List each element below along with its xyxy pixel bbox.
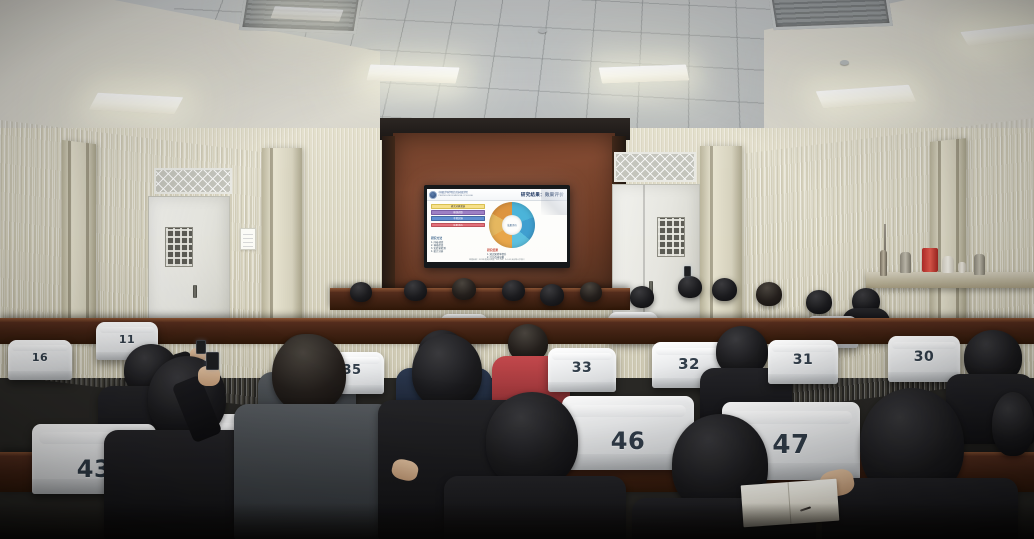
slide-left-legend: 研究方法 1. 问卷调查 2. 体格检查 3. 实验室检测 4. 统计分析 — [431, 237, 483, 253]
tall-grey-vase — [880, 250, 887, 276]
institution-seal-icon — [429, 191, 437, 199]
torso — [444, 476, 626, 539]
chair[interactable]: 31 — [768, 340, 838, 384]
chair-number: 31 — [768, 352, 838, 368]
head — [756, 282, 782, 306]
head — [992, 392, 1034, 456]
head — [350, 282, 372, 302]
head — [404, 280, 427, 301]
head — [502, 280, 525, 301]
head — [412, 334, 482, 408]
notebook[interactable] — [741, 479, 840, 528]
wall-pillar-left-2 — [262, 148, 302, 336]
head — [806, 290, 832, 314]
door-left-handle-icon[interactable] — [193, 285, 197, 298]
panel-light-2 — [366, 64, 459, 83]
grey-vase-2 — [974, 254, 985, 275]
slide-body: 研究对象筛选 基线调查 干预实施 效果评价 研究方法 1. 问卷调查 2. 体格… — [427, 201, 567, 262]
small-white-jar — [958, 262, 966, 273]
chair[interactable]: 30 — [888, 336, 960, 382]
door-right-transom-grille — [614, 152, 696, 182]
panel-light-3 — [599, 64, 690, 83]
slide-footnote: 数据来源：2023年度随访调查，n=1,248，P<0.05 具有统计学意义 — [431, 258, 563, 261]
door-left-leaf[interactable] — [148, 196, 230, 324]
wall-notice-left — [240, 228, 256, 250]
slide-donut-chart: 效果评价 — [489, 202, 535, 248]
donut-center-label: 效果评价 — [489, 202, 535, 248]
phone-icon[interactable] — [196, 340, 206, 354]
chair[interactable]: 16 — [8, 340, 72, 380]
phone-icon[interactable] — [206, 352, 219, 370]
slide-canvas: 中国医学科学院北京协和医学院 PEKING UNION MEDICAL COLL… — [427, 189, 567, 262]
chair-number: 16 — [8, 351, 72, 364]
flow-box: 研究对象筛选 — [431, 204, 485, 209]
head — [272, 334, 346, 412]
chair-number: 33 — [548, 360, 616, 376]
slide-organization-block: 中国医学科学院北京协和医学院 PEKING UNION MEDICAL COLL… — [437, 192, 473, 198]
chair-number: 30 — [888, 349, 960, 365]
head — [486, 392, 578, 488]
slide-header: 中国医学科学院北京协和医学院 PEKING UNION MEDICAL COLL… — [427, 189, 567, 201]
head — [452, 278, 476, 300]
smoke-detector-icon-1 — [538, 28, 547, 33]
wall-pillar-right-1 — [700, 146, 742, 332]
white-jar — [942, 256, 954, 273]
flow-box: 基线调查 — [431, 210, 485, 215]
left-legend-item: 4. 统计分析 — [431, 250, 483, 253]
wall-pillar-right-2 — [930, 138, 966, 322]
door-right-lattice-window — [657, 217, 685, 257]
stage-panel-edge-left — [382, 136, 395, 296]
presentation-display[interactable]: 中国医学科学院北京协和医学院 PEKING UNION MEDICAL COLL… — [424, 185, 570, 268]
side-table — [866, 272, 1034, 288]
head — [540, 284, 564, 306]
slide-title: 研究结果：效果评价 — [521, 192, 564, 198]
head — [678, 276, 702, 298]
red-vase — [922, 248, 938, 272]
lecture-hall-scene: 中国医学科学院北京协和医学院 PEKING UNION MEDICAL COLL… — [0, 0, 1034, 539]
smoke-detector-icon-2 — [840, 60, 849, 65]
grey-vase — [900, 252, 911, 273]
wall-pillar-left-1 — [62, 140, 96, 344]
flow-box: 干预实施 — [431, 216, 485, 221]
slide-flow-diagram: 研究对象筛选 基线调查 干预实施 效果评价 — [431, 204, 485, 229]
flow-box: 效果评价 — [431, 223, 485, 228]
torso — [234, 404, 392, 539]
door-left-transom-grille — [154, 168, 232, 194]
head — [580, 282, 602, 302]
slide-organization-sub: PEKING UNION MEDICAL COLLEGE — [439, 195, 473, 198]
chair[interactable]: 33 — [548, 348, 616, 392]
head — [712, 278, 737, 301]
ac-vent-right-icon — [767, 0, 893, 30]
phone-icon[interactable] — [684, 266, 691, 277]
head — [630, 286, 654, 308]
door-left-lattice-window — [165, 227, 193, 267]
